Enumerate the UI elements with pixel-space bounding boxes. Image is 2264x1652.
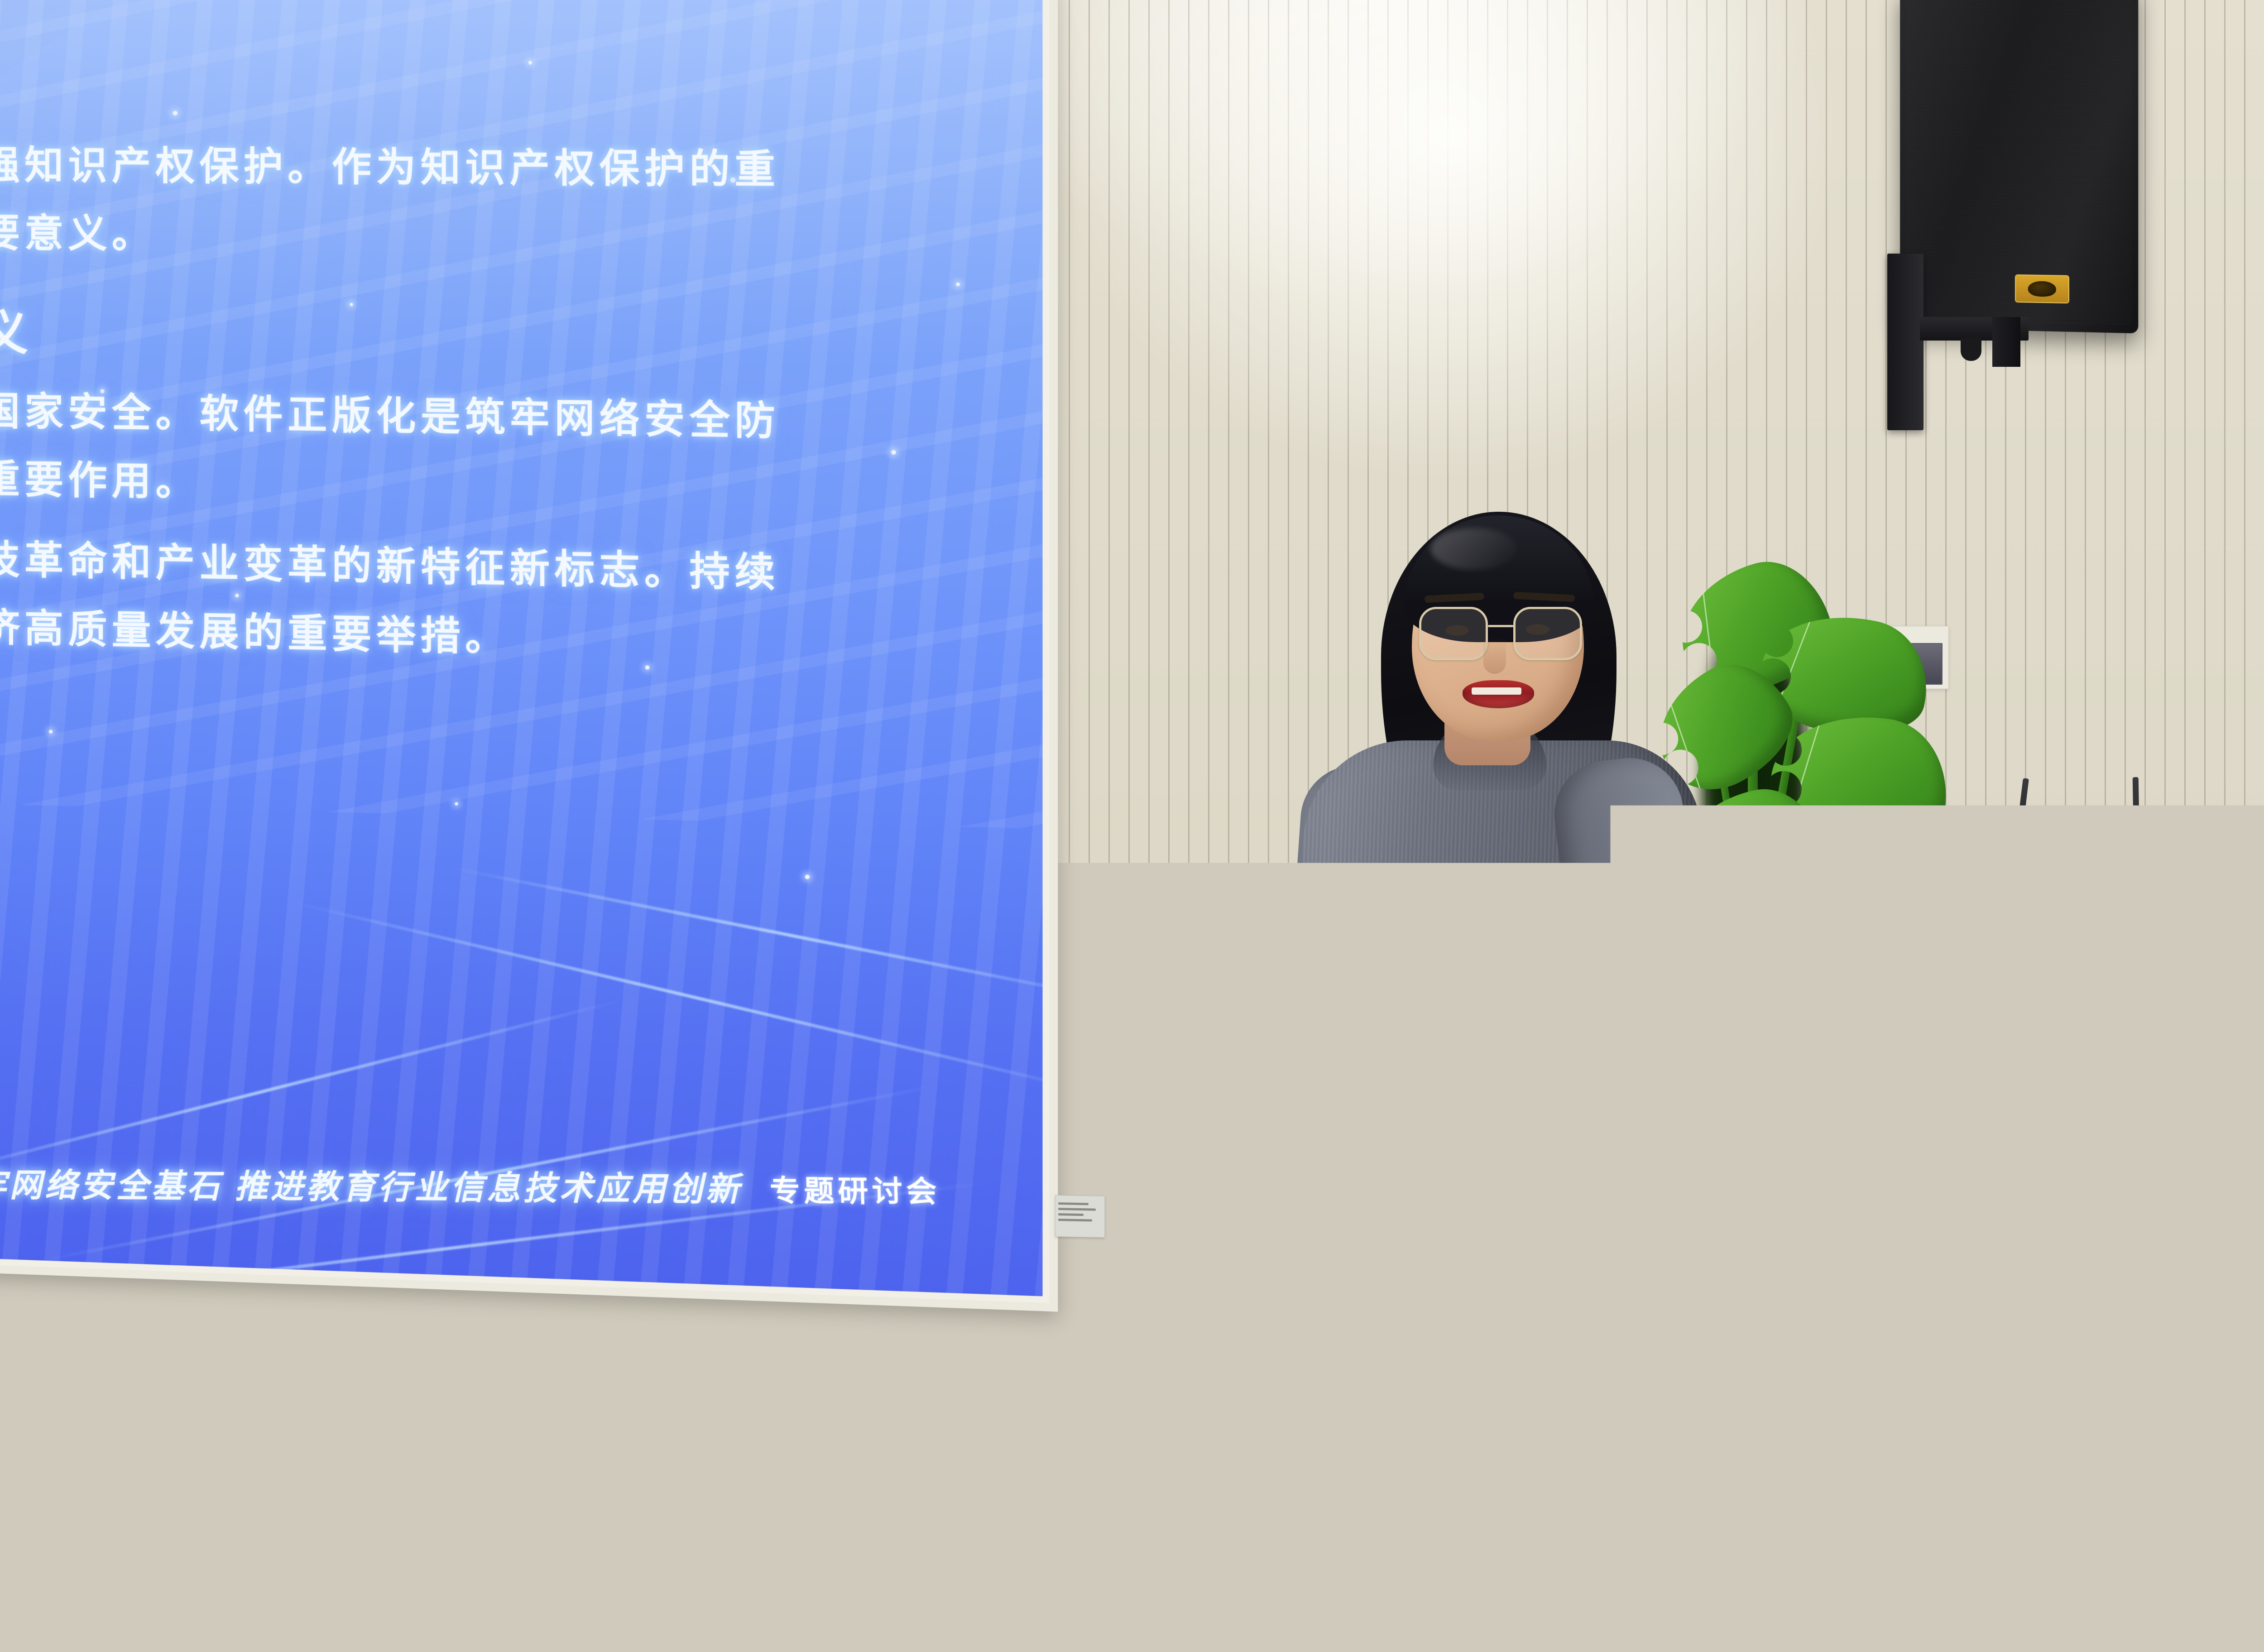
slide-text-block: 强知识产权保护。作为知识产权保护的重 要意义。 义 国家安全。软件正版化是筑牢网… — [0, 146, 1043, 667]
wall-info-label — [1055, 1195, 1105, 1238]
projection-screen-frame: 强知识产权保护。作为知识产权保护的重 要意义。 义 国家安全。软件正版化是筑牢网… — [0, 0, 1058, 1312]
logo-divider — [2259, 1124, 2260, 1183]
slide-footer-main: 牢网络安全基石 推进教育行业信息技术应用创新 — [0, 1158, 743, 1210]
podium-host-block: 主办单位: 湖南省教育信息化学会 — [1761, 1525, 2250, 1620]
screen-light-beams — [0, 753, 1043, 1297]
podium-title-line2: 推进教育行业信息技术应用创新 — [1761, 1268, 2250, 1359]
host-organization: 湖南省教育信息化学会 — [1761, 1579, 2250, 1620]
glasses-bridge — [1488, 625, 1514, 627]
podium-title-line1: 筑牢网络安全基石 — [1761, 1223, 2250, 1268]
speaker-wall-bracket — [1887, 254, 1923, 430]
glasses-lens-left — [1419, 607, 1488, 660]
slide-footer-sub: 专题研讨会 — [769, 1167, 941, 1210]
photo-scene: 强知识产权保护。作为知识产权保护的重 要意义。 义 国家安全。软件正版化是筑牢网… — [0, 0, 2264, 1652]
association-name: 湖南省教育信息化学会 — [1876, 1129, 2243, 1178]
presenter-mouth — [1463, 680, 1534, 708]
speaker-mount-knob — [1961, 337, 1981, 361]
speaker-mount-post — [1992, 317, 2020, 367]
podium-title-big: 专题研讨会 — [1761, 1382, 2250, 1464]
floor-left — [0, 1349, 1109, 1652]
presenter-nose — [1483, 639, 1506, 674]
binary-col-8: 0 0 1 0 1 1 0 0 — [2200, 916, 2246, 1036]
podium-title-block: 筑牢网络安全基石 推进教育行业信息技术应用创新 专题研讨会 — [1761, 1223, 2250, 1464]
host-label: 主办单位: — [1761, 1525, 2250, 1557]
podium-logo-row: 湖南省教育信息化学会 HUNAN · 2016 湖南省教育信息化学会 麒麟信安 … — [1785, 1108, 2229, 1199]
slide-line-1: 强知识产权保护。作为知识产权保护的重 — [0, 146, 1043, 191]
presenter-hair-sheen — [1431, 528, 1517, 570]
presenter — [1250, 512, 1784, 1652]
association-logo-arc-bottom: HUNAN · 2016 — [1808, 1180, 1837, 1184]
speaker-brand-badge — [2015, 274, 2069, 303]
association-logo-icon: 湖南省教育信息化学会 HUNAN · 2016 — [1785, 1115, 1861, 1191]
projection-screen: 强知识产权保护。作为知识产权保护的重 要意义。 义 国家安全。软件正版化是筑牢网… — [0, 0, 1043, 1296]
slide-heading: 义 — [0, 294, 1043, 375]
slide-footer: 牢网络安全基石 推进教育行业信息技术应用创新 专题研讨会 — [0, 1158, 1043, 1213]
glasses-lens-right — [1513, 607, 1582, 660]
podium-banner: 0 1 0 0 0 1 0 0 1 0 0 1 0 0 1 0 0 1 1 0 … — [1761, 916, 2250, 1652]
ceiling-speaker — [1900, 0, 2138, 333]
logo-flame-shape — [1812, 1129, 1834, 1157]
